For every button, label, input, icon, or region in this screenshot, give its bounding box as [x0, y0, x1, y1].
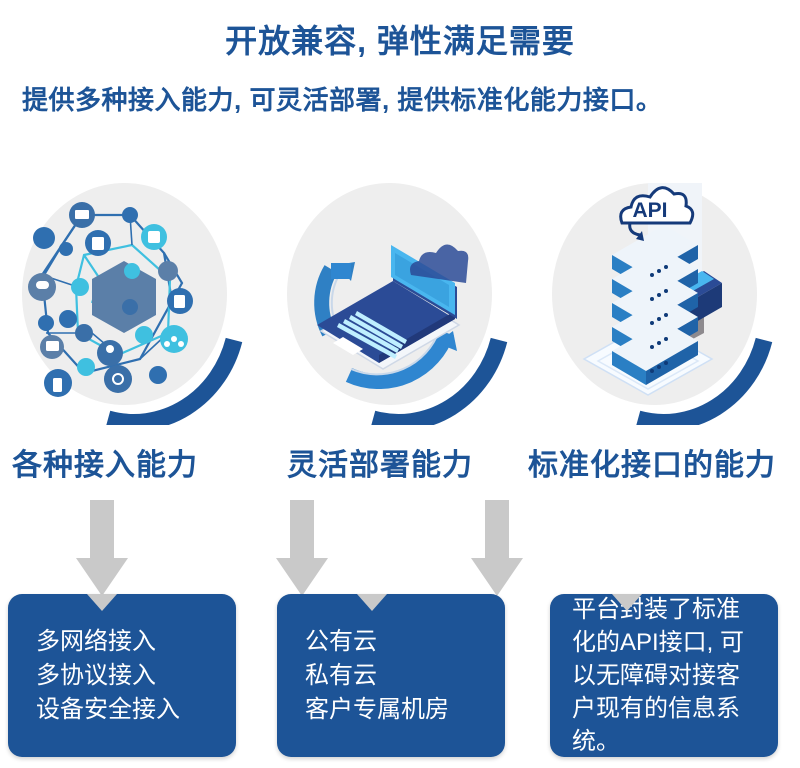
icon-cell-1 [0, 175, 265, 425]
feature-line: 公有云 [305, 625, 505, 659]
column-caption-2: 灵活部署能力 [287, 440, 473, 484]
feature-line: 设备安全接入 [36, 693, 236, 727]
arrow-notch [357, 594, 387, 611]
feature-line: 私有云 [305, 659, 505, 693]
down-arrow-icon-3 [467, 500, 527, 600]
page-subtitle: 提供多种接入能力, 可灵活部署, 提供标准化能力接口。 [22, 80, 662, 117]
feature-box-3[interactable]: 平台封装了标准化的API接口, 可以无障碍对接客户现有的信息系统。 [550, 594, 778, 757]
page-title: 开放兼容, 弹性满足需要 [0, 16, 800, 62]
feature-line: 多网络接入 [36, 625, 236, 659]
arrow-notch [87, 594, 117, 611]
column-caption-3: 标准化接口的能力 [528, 440, 776, 484]
feature-line: 平台封装了标准化的API接口, 可以无障碍对接客户现有的信息系统。 [572, 593, 760, 758]
feature-box-1[interactable]: 多网络接入 多协议接入 设备安全接入 [8, 594, 236, 757]
api-badge-label: API [632, 199, 667, 222]
icon-cell-3: API [530, 175, 795, 425]
feature-line: 客户专属机房 [305, 693, 505, 727]
feature-line: 多协议接入 [36, 659, 236, 693]
laptop-cloud-icon [287, 183, 492, 405]
feature-box-2[interactable]: 公有云 私有云 客户专属机房 [277, 594, 505, 757]
server-units [612, 225, 698, 385]
down-arrow-icon-1 [72, 500, 132, 600]
icon-cell-2 [265, 175, 530, 425]
network-mesh-icon [22, 183, 227, 405]
column-caption-1: 各种接入能力 [12, 440, 198, 484]
infographic-page: 开放兼容, 弹性满足需要 提供多种接入能力, 可灵活部署, 提供标准化能力接口。 [0, 0, 800, 768]
down-arrow-icon-2 [272, 500, 332, 600]
icon-row: API [0, 175, 800, 425]
center-hexagon [92, 261, 156, 333]
api-server-stack-icon: API [552, 183, 757, 405]
